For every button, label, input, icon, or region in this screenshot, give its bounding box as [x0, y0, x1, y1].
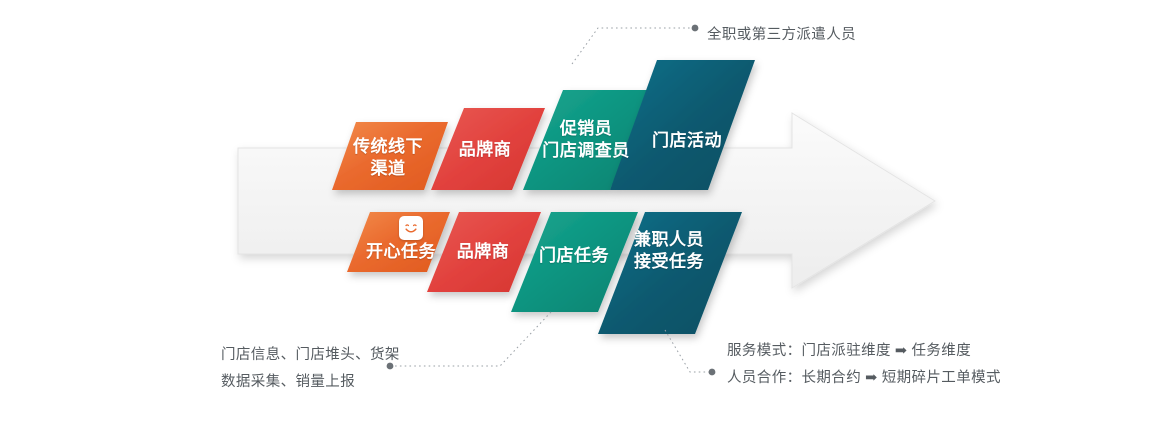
- leader-line-bottom-right: [665, 330, 715, 375]
- smiley-face-glyph: [399, 216, 423, 240]
- smiley-face-icon: [399, 216, 423, 240]
- annotation-bottom-left: 门店信息、门店堆头、货架 数据采集、销量上报: [221, 342, 400, 396]
- diagram-canvas: 传统线下 渠道 品牌商 促销员 门店调查员 门店活动 开心任务 品牌商 门店任务…: [0, 0, 1150, 430]
- leader-line-top-right: [572, 25, 698, 64]
- annotation-bottom-right: 服务模式：门店派驻维度 ➡ 任务维度 人员合作：长期合约 ➡ 短期碎片工单模式: [727, 338, 1001, 392]
- annotation-top-right: 全职或第三方派遣人员: [707, 22, 856, 49]
- leader-line-bottom-left: [387, 312, 551, 369]
